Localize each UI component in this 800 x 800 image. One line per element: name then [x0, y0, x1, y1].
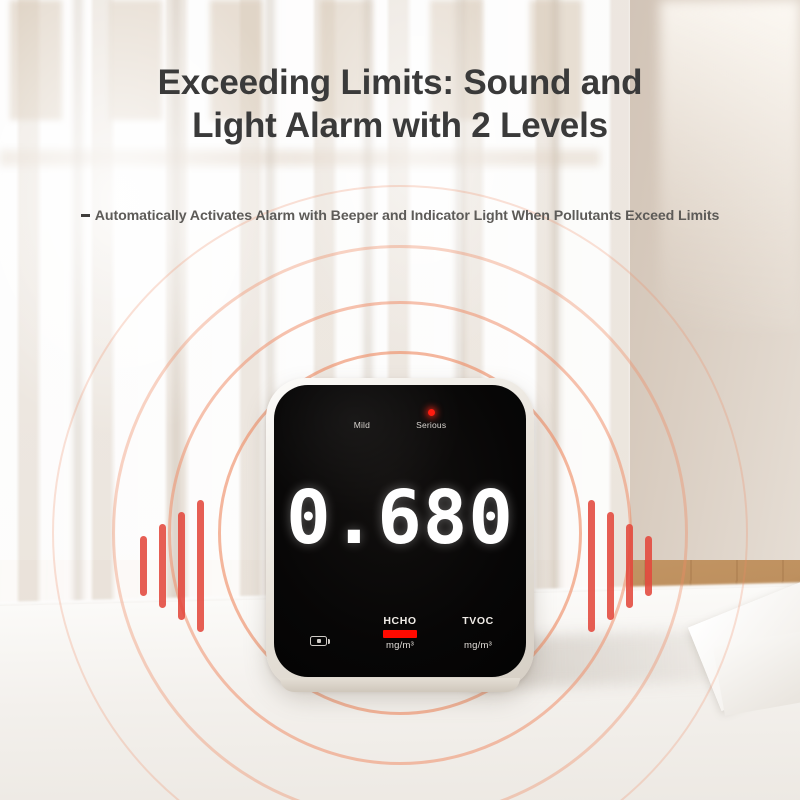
headline-line-1: Exceeding Limits: Sound and — [0, 62, 800, 105]
window-sill — [0, 150, 600, 166]
alarm-level-mild: Mild — [354, 409, 370, 430]
device-base — [280, 678, 520, 692]
serious-led-icon — [428, 409, 435, 416]
tvoc-active-indicator — [461, 630, 495, 638]
subtitle-text: Automatically Activates Alarm with Beepe… — [95, 208, 719, 224]
device-screen: Mild Serious 0.680 HCHO mg/m³ TVOC — [274, 385, 526, 677]
alarm-level-serious: Serious — [416, 409, 446, 430]
metric-row: HCHO mg/m³ TVOC mg/m³ — [274, 607, 526, 651]
mild-led-icon — [358, 409, 365, 416]
metric-unit: mg/m³ — [362, 640, 438, 651]
hcho-active-indicator — [383, 630, 417, 638]
headline-line-2: Light Alarm with 2 Levels — [0, 105, 800, 148]
concentration-reading: 0.680 — [274, 481, 526, 555]
alarm-level-row: Mild Serious — [274, 409, 526, 430]
metric-label: TVOC — [440, 615, 516, 627]
alarm-level-label: Mild — [354, 420, 370, 430]
page-title: Exceeding Limits: Sound and Light Alarm … — [0, 62, 800, 147]
metric-unit: mg/m³ — [440, 640, 516, 651]
metric-label: HCHO — [362, 615, 438, 627]
battery-icon — [310, 636, 327, 646]
air-quality-detector[interactable]: Mild Serious 0.680 HCHO mg/m³ TVOC — [266, 378, 534, 690]
product-marketing-scene: Mild Serious 0.680 HCHO mg/m³ TVOC — [0, 0, 800, 800]
metric-hcho: HCHO mg/m³ — [362, 615, 438, 651]
wall-sunlight-patch — [660, 0, 800, 330]
dash-marker-icon — [81, 214, 90, 218]
page-subtitle: Automatically Activates Alarm with Beepe… — [0, 208, 800, 224]
alarm-level-label: Serious — [416, 420, 446, 430]
metric-tvoc: TVOC mg/m³ — [440, 615, 516, 651]
